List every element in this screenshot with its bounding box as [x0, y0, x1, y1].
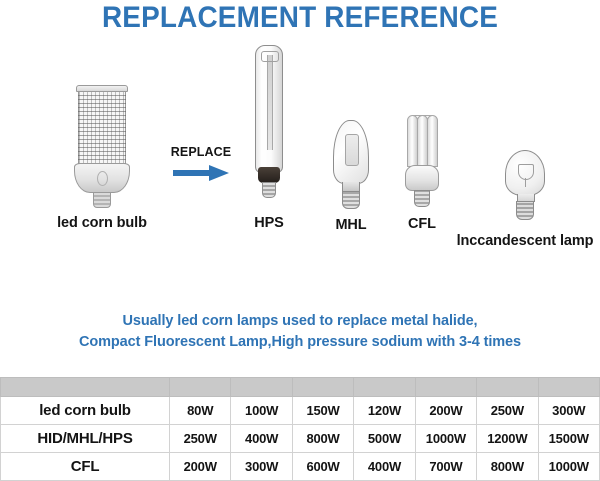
bulb-item-incandescent: lnccandescent lamp	[452, 150, 598, 249]
table-header-cell	[354, 378, 415, 397]
table-cell: 120W	[354, 397, 415, 425]
table-cell: 150W	[292, 397, 353, 425]
row-label: led corn bulb	[1, 397, 170, 425]
page-title: REPLACEMENT REFERENCE	[21, 1, 579, 35]
table-cell: 500W	[354, 425, 415, 453]
table-header-cell	[538, 378, 599, 397]
table-cell: 800W	[477, 453, 538, 481]
bulb-item-hps: HPS	[232, 45, 306, 231]
table-cell: 700W	[415, 453, 476, 481]
table-cell: 250W	[170, 425, 231, 453]
cfl-bulb-icon	[398, 115, 446, 211]
table-header-cell	[292, 378, 353, 397]
table-cell: 1000W	[415, 425, 476, 453]
wattage-comparison-table: led corn bulb 80W 100W 150W 120W 200W 25…	[0, 377, 600, 481]
table-cell: 200W	[415, 397, 476, 425]
table-header-row	[1, 378, 600, 397]
bulb-item-cfl: CFL	[386, 115, 458, 232]
table-header-cell	[415, 378, 476, 397]
bulb-label-incandescent: lnccandescent lamp	[452, 233, 598, 249]
table-cell: 200W	[170, 453, 231, 481]
description-block: Usually led corn lamps used to replace m…	[0, 311, 600, 353]
description-line-1: Usually led corn lamps used to replace m…	[0, 311, 600, 332]
table-cell: 800W	[292, 425, 353, 453]
bulb-showcase: led corn bulb REPLACE HPS	[0, 55, 600, 255]
bulb-label-mhl: MHL	[312, 217, 390, 233]
table-row: CFL 200W 300W 600W 400W 700W 800W 1000W	[1, 453, 600, 481]
row-label: CFL	[1, 453, 170, 481]
description-line-2: Compact Fluorescent Lamp,High pressure s…	[0, 332, 600, 353]
table-cell: 400W	[231, 425, 292, 453]
table-cell: 1500W	[538, 425, 599, 453]
table-cell: 600W	[292, 453, 353, 481]
table-cell: 80W	[170, 397, 231, 425]
bulb-item-mhl: MHL	[312, 120, 390, 233]
bulb-label-hps: HPS	[232, 215, 306, 231]
table-cell: 400W	[354, 453, 415, 481]
table-cell: 100W	[231, 397, 292, 425]
table-cell: 300W	[538, 397, 599, 425]
table-cell: 1200W	[477, 425, 538, 453]
row-label: HID/MHL/HPS	[1, 425, 170, 453]
mhl-bulb-icon	[326, 120, 376, 212]
table-row: led corn bulb 80W 100W 150W 120W 200W 25…	[1, 397, 600, 425]
table-cell: 250W	[477, 397, 538, 425]
table-header-cell	[1, 378, 170, 397]
table-header-cell	[231, 378, 292, 397]
bulb-label-led-corn-bulb: led corn bulb	[18, 215, 186, 231]
table-row: HID/MHL/HPS 250W 400W 800W 500W 1000W 12…	[1, 425, 600, 453]
table-header-cell	[477, 378, 538, 397]
led-corn-bulb-icon	[67, 85, 137, 210]
table-cell: 300W	[231, 453, 292, 481]
bulb-label-cfl: CFL	[386, 216, 458, 232]
table-header-cell	[170, 378, 231, 397]
incandescent-bulb-icon	[499, 150, 551, 228]
hps-bulb-icon	[246, 45, 292, 210]
table-cell: 1000W	[538, 453, 599, 481]
